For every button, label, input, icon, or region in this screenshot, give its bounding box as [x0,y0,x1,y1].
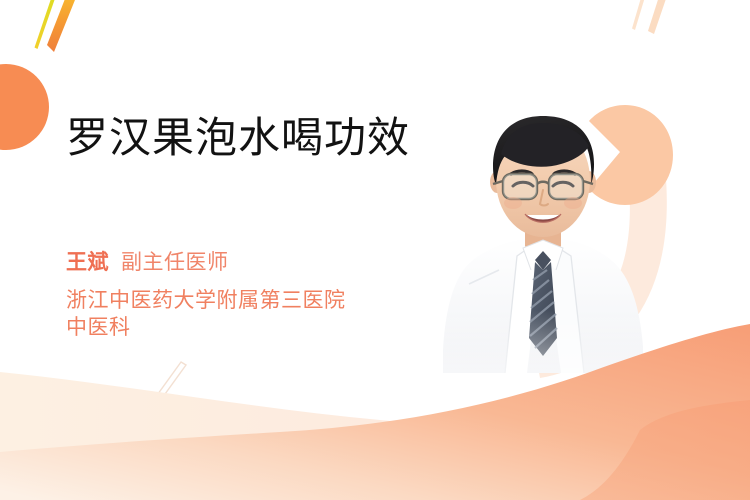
doctor-title: 副主任医师 [121,251,229,274]
promo-card: 罗汉果泡水喝功效 王斌副主任医师 浙江中医药大学附属第三医院 中医科 [0,0,750,500]
title-block: 罗汉果泡水喝功效 [66,112,466,164]
department-name: 中医科 [66,314,346,341]
hospital-name: 浙江中医药大学附属第三医院 [66,287,346,314]
doctor-name: 王斌 [66,251,109,274]
page-title: 罗汉果泡水喝功效 [66,112,466,164]
doctor-credit-block: 王斌副主任医师 浙江中医药大学附属第三医院 中医科 [66,249,346,341]
doctor-name-row: 王斌副主任医师 [66,249,346,277]
